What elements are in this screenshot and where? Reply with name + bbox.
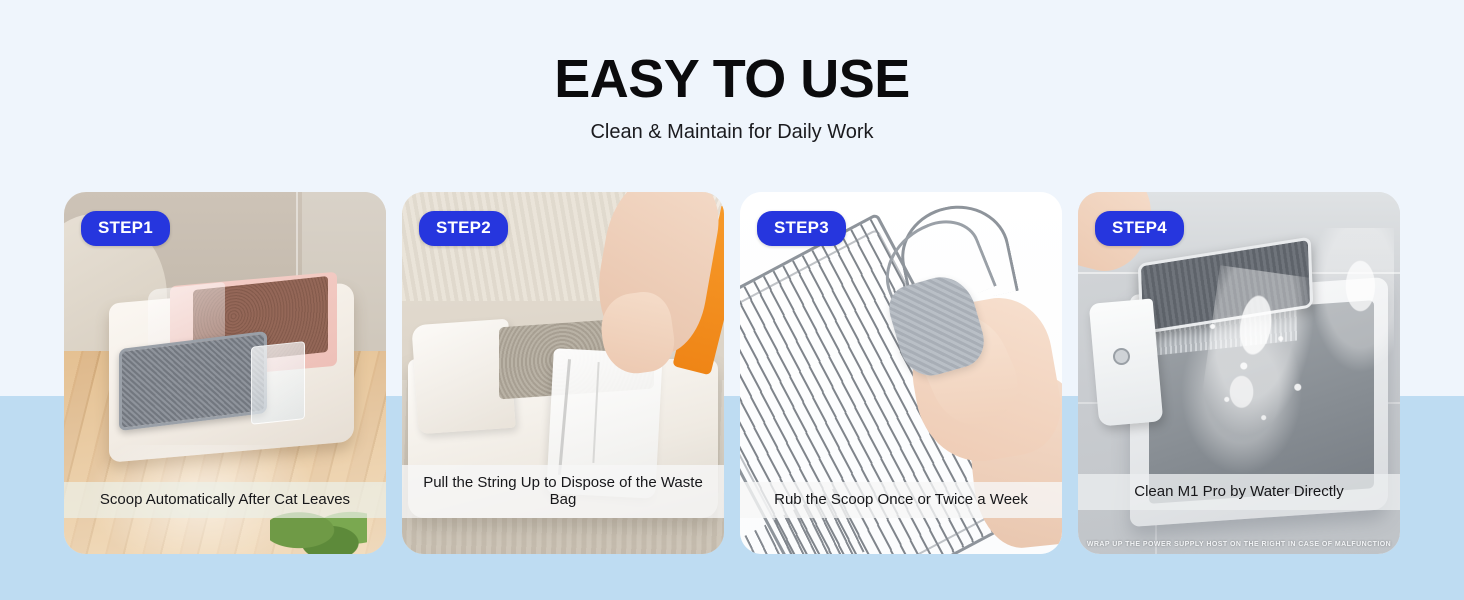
infographic-stage: EASY TO USE Clean & Maintain for Daily W… (0, 0, 1464, 600)
step-card-1[interactable]: STEP1 Scoop Automatically After Cat Leav… (64, 192, 386, 554)
motor-dial-shape (1113, 348, 1130, 365)
water-droplets-shape (1187, 293, 1329, 445)
step-badge-2: STEP2 (419, 211, 508, 246)
waste-drawer-shape (251, 341, 305, 425)
step-badge-1: STEP1 (81, 211, 170, 246)
header: EASY TO USE Clean & Maintain for Daily W… (0, 0, 1464, 144)
step-card-2[interactable]: STEP2 Pull the String Up to Dispose of t… (402, 192, 724, 554)
page-title: EASY TO USE (0, 0, 1464, 107)
step-caption-3: Rub the Scoop Once or Twice a Week (740, 482, 1062, 518)
step-card-3[interactable]: STEP3 Rub the Scoop Once or Twice a Week (740, 192, 1062, 554)
steps-grid: STEP1 Scoop Automatically After Cat Leav… (64, 192, 1400, 554)
page-subtitle: Clean & Maintain for Daily Work (0, 107, 1464, 144)
step-caption-1: Scoop Automatically After Cat Leaves (64, 482, 386, 518)
step-card-4[interactable]: STEP4 Clean M1 Pro by Water Directly WRA… (1078, 192, 1400, 554)
step-caption-4: Clean M1 Pro by Water Directly (1078, 474, 1400, 510)
step-badge-4: STEP4 (1095, 211, 1184, 246)
step-caption-2: Pull the String Up to Dispose of the Was… (402, 465, 724, 519)
step-badge-3: STEP3 (757, 211, 846, 246)
step-4-fine-print: WRAP UP THE POWER SUPPLY HOST ON THE RIG… (1078, 541, 1400, 548)
